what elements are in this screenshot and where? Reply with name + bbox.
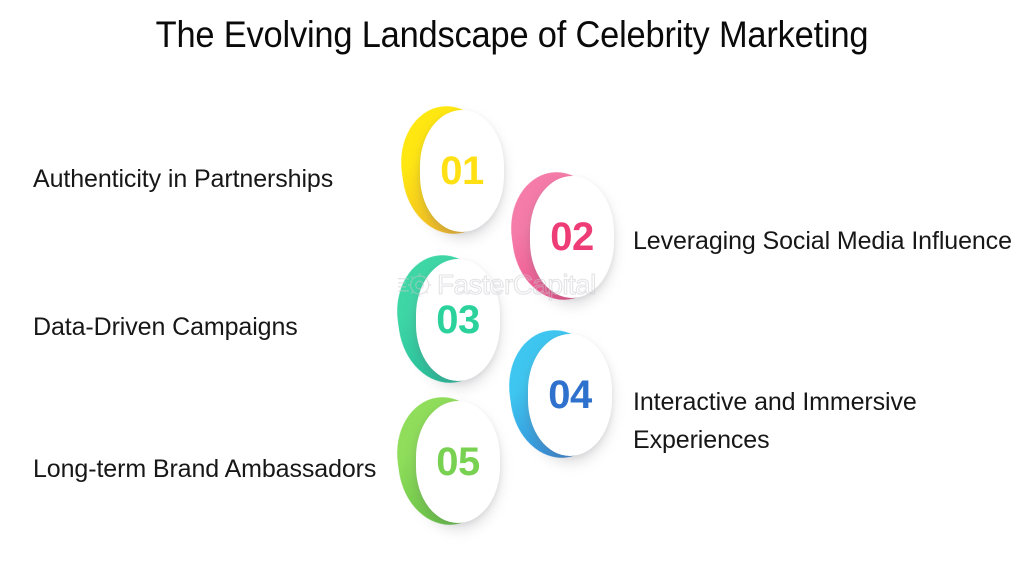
page-title: The Evolving Landscape of Celebrity Mark… bbox=[36, 14, 988, 56]
step-badge-02-number: 02 bbox=[530, 176, 614, 298]
step-badge-04-number: 04 bbox=[528, 334, 612, 456]
step-badge-04[interactable]: 04 bbox=[510, 330, 622, 465]
step-badge-02[interactable]: 02 bbox=[512, 172, 624, 307]
step-label-03: Data-Driven Campaigns bbox=[33, 308, 383, 346]
step-label-02: Leveraging Social Media Influence bbox=[633, 222, 1013, 260]
step-label-01: Authenticity in Partnerships bbox=[33, 160, 383, 198]
step-badge-03[interactable]: 03 bbox=[398, 255, 510, 390]
step-label-05: Long-term Brand Ambassadors bbox=[33, 450, 383, 488]
step-badge-05[interactable]: 05 bbox=[398, 397, 510, 532]
step-label-04: Interactive and Immersive Experiences bbox=[633, 383, 1013, 459]
step-badge-01[interactable]: 01 bbox=[402, 106, 514, 241]
step-badge-01-number: 01 bbox=[420, 110, 504, 232]
infographic-canvas: The Evolving Landscape of Celebrity Mark… bbox=[0, 0, 1024, 576]
step-badge-05-number: 05 bbox=[416, 401, 500, 523]
step-badge-03-number: 03 bbox=[416, 259, 500, 381]
